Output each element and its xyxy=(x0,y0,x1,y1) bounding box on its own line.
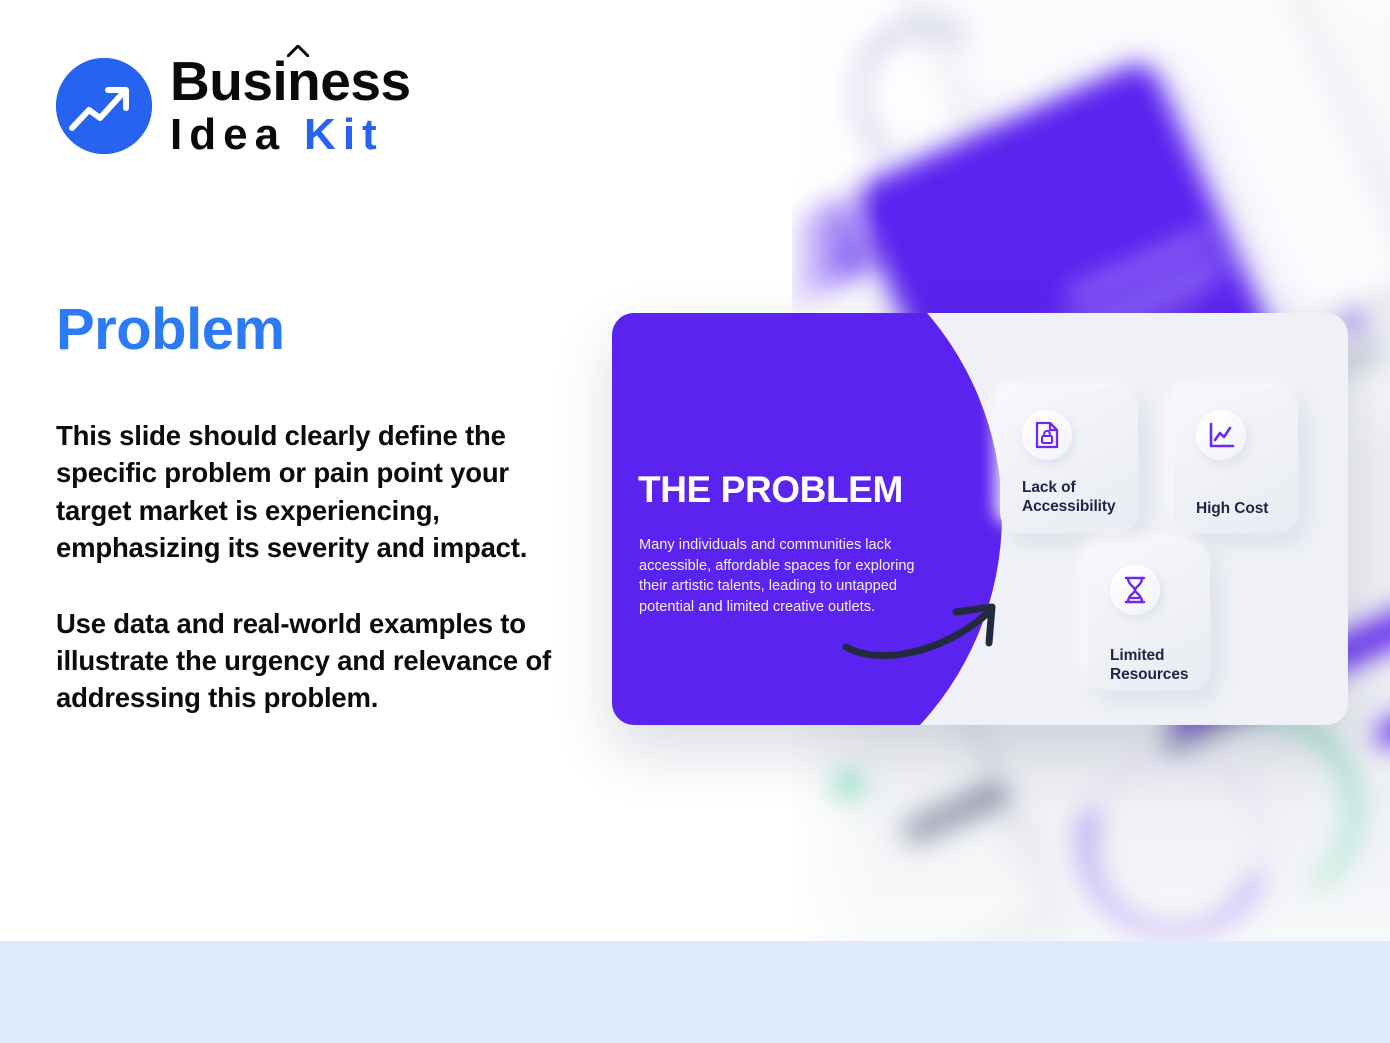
tile-label: Limited Resources xyxy=(1110,647,1215,684)
slide-page: Business Idea Kit Problem This slide sho… xyxy=(0,0,1390,1043)
tile-high-cost[interactable]: High Cost xyxy=(1174,388,1298,533)
body-copy: This slide should clearly define the spe… xyxy=(56,417,566,717)
growth-arrow-icon xyxy=(56,58,152,154)
tile-lack-of-accessibility[interactable]: Lack of Accessibility xyxy=(1000,388,1138,533)
locked-document-icon xyxy=(1022,410,1072,460)
brand-wordmark: Business Idea Kit xyxy=(170,54,411,157)
page-title: Problem xyxy=(56,296,285,363)
body-paragraph-2: Use data and real-world examples to illu… xyxy=(56,605,566,717)
brand-line-two: Idea Kit xyxy=(170,113,411,157)
circumflex-accent-icon xyxy=(287,45,309,57)
curved-arrow-icon xyxy=(842,593,1012,663)
tile-label: Lack of Accessibility xyxy=(1022,479,1132,516)
bottom-color-band xyxy=(0,941,1390,1043)
slide-heading: THE PROBLEM xyxy=(638,471,968,508)
purple-blob-shape xyxy=(612,313,1002,725)
brand-word-kit: Kit xyxy=(304,113,384,157)
hourglass-icon xyxy=(1110,565,1160,615)
tile-limited-resources[interactable]: Limited Resources xyxy=(1088,543,1210,691)
bg-dot xyxy=(830,770,860,800)
brand-word-business: Business xyxy=(170,54,411,109)
tile-label: High Cost xyxy=(1196,500,1306,519)
brand-word-idea: Idea xyxy=(170,113,286,157)
slide-preview-card[interactable]: THE PROBLEM Many individuals and communi… xyxy=(612,313,1348,725)
body-paragraph-1: This slide should clearly define the spe… xyxy=(56,417,566,567)
brand-logo[interactable]: Business Idea Kit xyxy=(56,54,411,157)
line-chart-icon xyxy=(1196,410,1246,460)
brand-word-business-text: Business xyxy=(170,50,411,112)
